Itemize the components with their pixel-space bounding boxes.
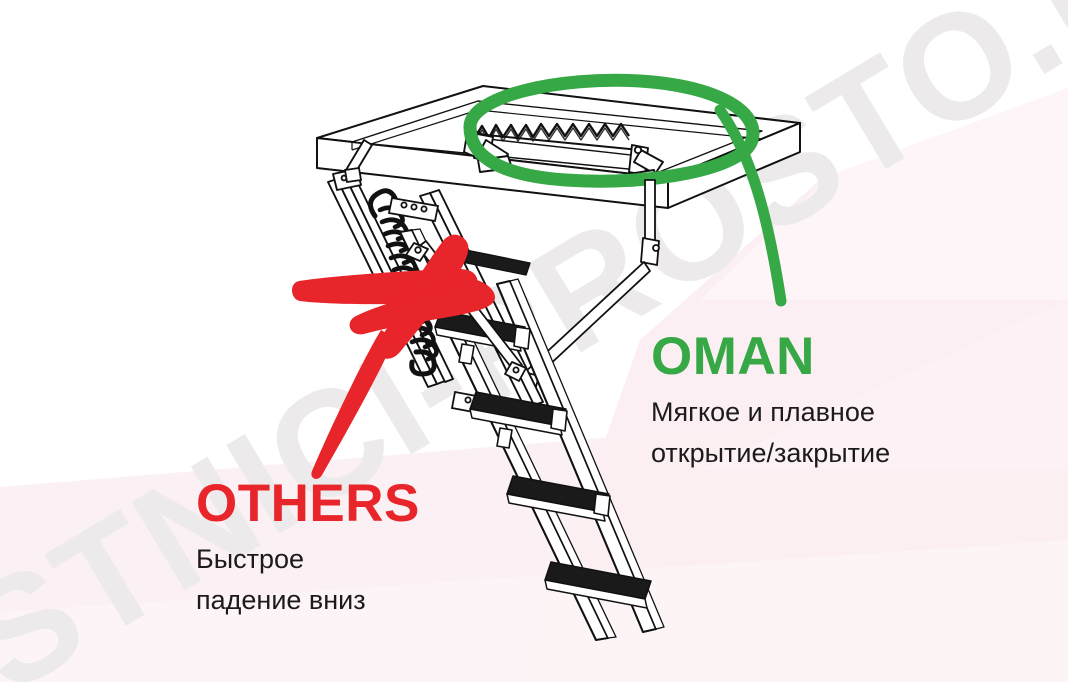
- oman-label-block: OMAN Мягкое и плавное открытие/закрытие: [651, 330, 890, 474]
- others-heading: OTHERS: [196, 477, 420, 530]
- infographic-canvas: LESTNICI-PROSTO.RU: [0, 0, 1068, 682]
- others-description-line-2: падение вниз: [196, 580, 420, 621]
- oman-description-line-2: открытие/закрытие: [651, 433, 890, 474]
- others-description-line-1: Быстрое: [196, 539, 420, 580]
- ladder-illustration: [0, 0, 1068, 682]
- oman-heading: OMAN: [651, 330, 890, 383]
- others-label-block: OTHERS Быстрое падение вниз: [196, 477, 420, 621]
- oman-description-line-1: Мягкое и плавное: [651, 392, 890, 433]
